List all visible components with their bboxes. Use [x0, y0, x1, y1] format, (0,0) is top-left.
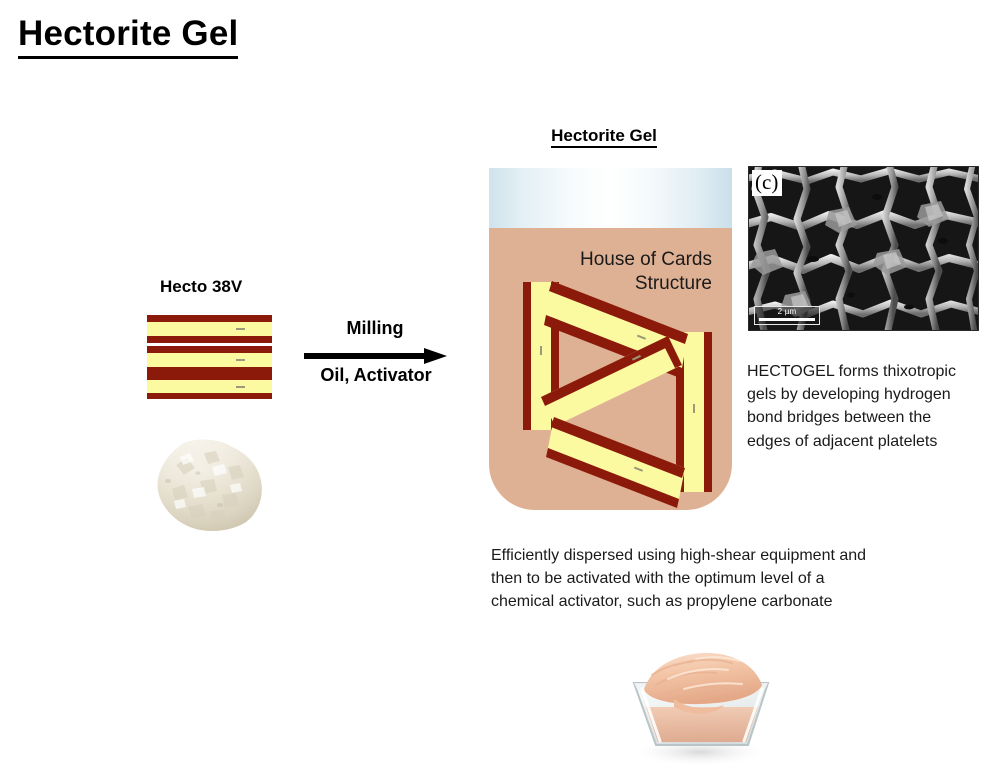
gel-bowl-photo	[616, 645, 786, 771]
platelet-face-layer	[147, 380, 272, 393]
sem-panel-label: (c)	[752, 170, 782, 196]
sem-micrograph: (c)	[748, 166, 979, 331]
beaker-heading-text: Hectorite Gel	[551, 126, 657, 148]
scale-bar-rule	[759, 318, 815, 321]
charge-mark-icon	[236, 386, 245, 388]
platelet-edge-layer	[147, 367, 272, 374]
page-title: Hectorite Gel	[18, 14, 238, 59]
charge-mark-icon	[236, 328, 245, 330]
hectorite-powder-photo	[154, 437, 266, 533]
platelet-edge-layer	[147, 346, 272, 353]
platelet-face-layer	[147, 322, 272, 336]
platelet-diagonal-lower	[546, 417, 685, 508]
milling-label: Milling	[300, 318, 450, 339]
process-arrow-group: Milling Oil, Activator	[300, 318, 450, 386]
right-arrow-icon	[304, 348, 447, 364]
platelet-face-layer	[147, 353, 272, 367]
dispersion-caption-text: Efficiently dispersed using high-shear e…	[491, 544, 873, 614]
scale-bar-label: 2 µm	[759, 308, 815, 317]
sem-caption-text: HECTOGEL forms thixotropic gels by devel…	[747, 360, 979, 453]
platelet-edge-layer	[147, 315, 272, 322]
platelet-edge-layer	[147, 336, 272, 343]
gel-beaker-diagram: House of Cards Structure	[489, 168, 732, 510]
beaker-heading: Hectorite Gel	[489, 126, 719, 146]
charge-mark-icon	[236, 359, 245, 361]
scale-bar: 2 µm	[754, 306, 820, 325]
oil-activator-label: Oil, Activator	[300, 365, 452, 386]
house-of-cards-platelets	[489, 168, 732, 510]
platelet-edge-layer	[147, 393, 272, 399]
layered-platelet-stack-diagram	[147, 315, 272, 399]
hecto-38v-label: Hecto 38V	[160, 277, 242, 297]
